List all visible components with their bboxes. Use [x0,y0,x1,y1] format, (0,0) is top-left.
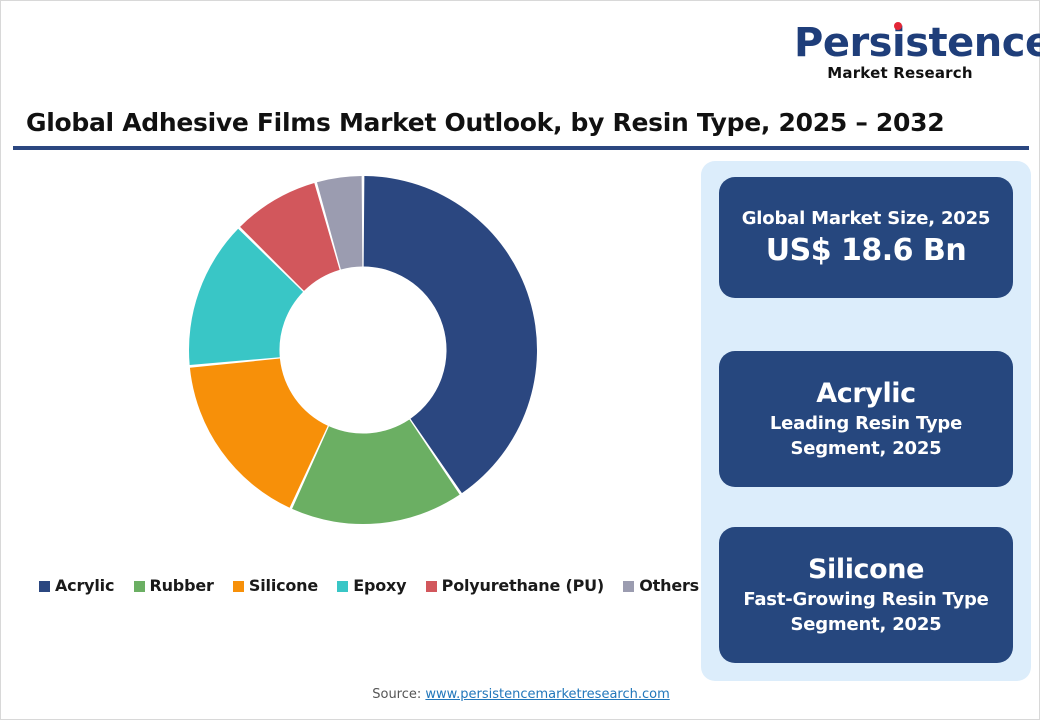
infographic-canvas: Persistence Market Research Global Adhes… [0,0,1040,720]
legend-label-acrylic: Acrylic [55,577,114,595]
kpi-side-panel: Global Market Size, 2025 US$ 18.6 Bn Acr… [701,161,1031,681]
chart-panel: Acrylic: 40.5%Rubber: 16.3%Silicone: 16.… [15,159,699,614]
legend-label-silicone: Silicone [249,577,318,595]
kpi-card-fast-growing-segment: Silicone Fast-Growing Resin Type Segment… [719,527,1013,663]
page-title: Global Adhesive Films Market Outlook, by… [26,107,986,139]
source-prefix: Source: [372,687,425,702]
legend-label-rubber: Rubber [150,577,214,595]
kpi-card-leading-segment: Acrylic Leading Resin Type Segment, 2025 [719,351,1013,487]
legend-label-others: Others [639,577,699,595]
kpi-fast-growing-segment-name: Silicone [808,553,924,587]
legend-label-epoxy: Epoxy [353,577,406,595]
legend-item-polyurethane-pu[interactable]: Polyurethane (PU) [426,577,604,595]
legend-swatch-others [623,581,634,592]
kpi-leading-segment-name: Acrylic [816,377,916,411]
legend-swatch-epoxy [337,581,348,592]
kpi-market-size-label: Global Market Size, 2025 [742,206,991,232]
legend-item-epoxy[interactable]: Epoxy [337,577,406,595]
legend-item-others[interactable]: Others [623,577,699,595]
kpi-market-size-value: US$ 18.6 Bn [766,232,966,270]
chart-legend: AcrylicRubberSiliconeEpoxyPolyurethane (… [39,577,699,595]
legend-swatch-acrylic [39,581,50,592]
donut-chart-svg: Acrylic: 40.5%Rubber: 16.3%Silicone: 16.… [183,170,543,530]
legend-swatch-rubber [134,581,145,592]
logo-wordmark-text: Persistence [794,20,1040,66]
legend-swatch-silicone [233,581,244,592]
kpi-fast-growing-segment-line2: Segment, 2025 [790,612,941,637]
kpi-leading-segment-line1: Leading Resin Type [770,411,962,436]
title-divider [13,146,1029,150]
kpi-card-market-size: Global Market Size, 2025 US$ 18.6 Bn [719,177,1013,298]
legend-label-polyurethane-pu: Polyurethane (PU) [442,577,604,595]
legend-item-rubber[interactable]: Rubber [134,577,214,595]
kpi-fast-growing-segment-line1: Fast-Growing Resin Type [743,587,988,612]
logo-subtitle: Market Research [794,64,1006,82]
kpi-leading-segment-line2: Segment, 2025 [790,436,941,461]
logo-wordmark: Persistence [794,23,1040,63]
brand-logo: Persistence Market Research [794,23,1006,82]
source-link[interactable]: www.persistencemarketresearch.com [425,687,669,702]
logo-dot-icon [894,22,902,30]
donut-slice-group: Acrylic: 40.5%Rubber: 16.3%Silicone: 16.… [189,176,537,524]
source-note: Source: www.persistencemarketresearch.co… [1,687,1040,702]
legend-swatch-polyurethane-pu [426,581,437,592]
legend-item-silicone[interactable]: Silicone [233,577,318,595]
legend-item-acrylic[interactable]: Acrylic [39,577,114,595]
donut-chart: Acrylic: 40.5%Rubber: 16.3%Silicone: 16.… [183,170,543,530]
